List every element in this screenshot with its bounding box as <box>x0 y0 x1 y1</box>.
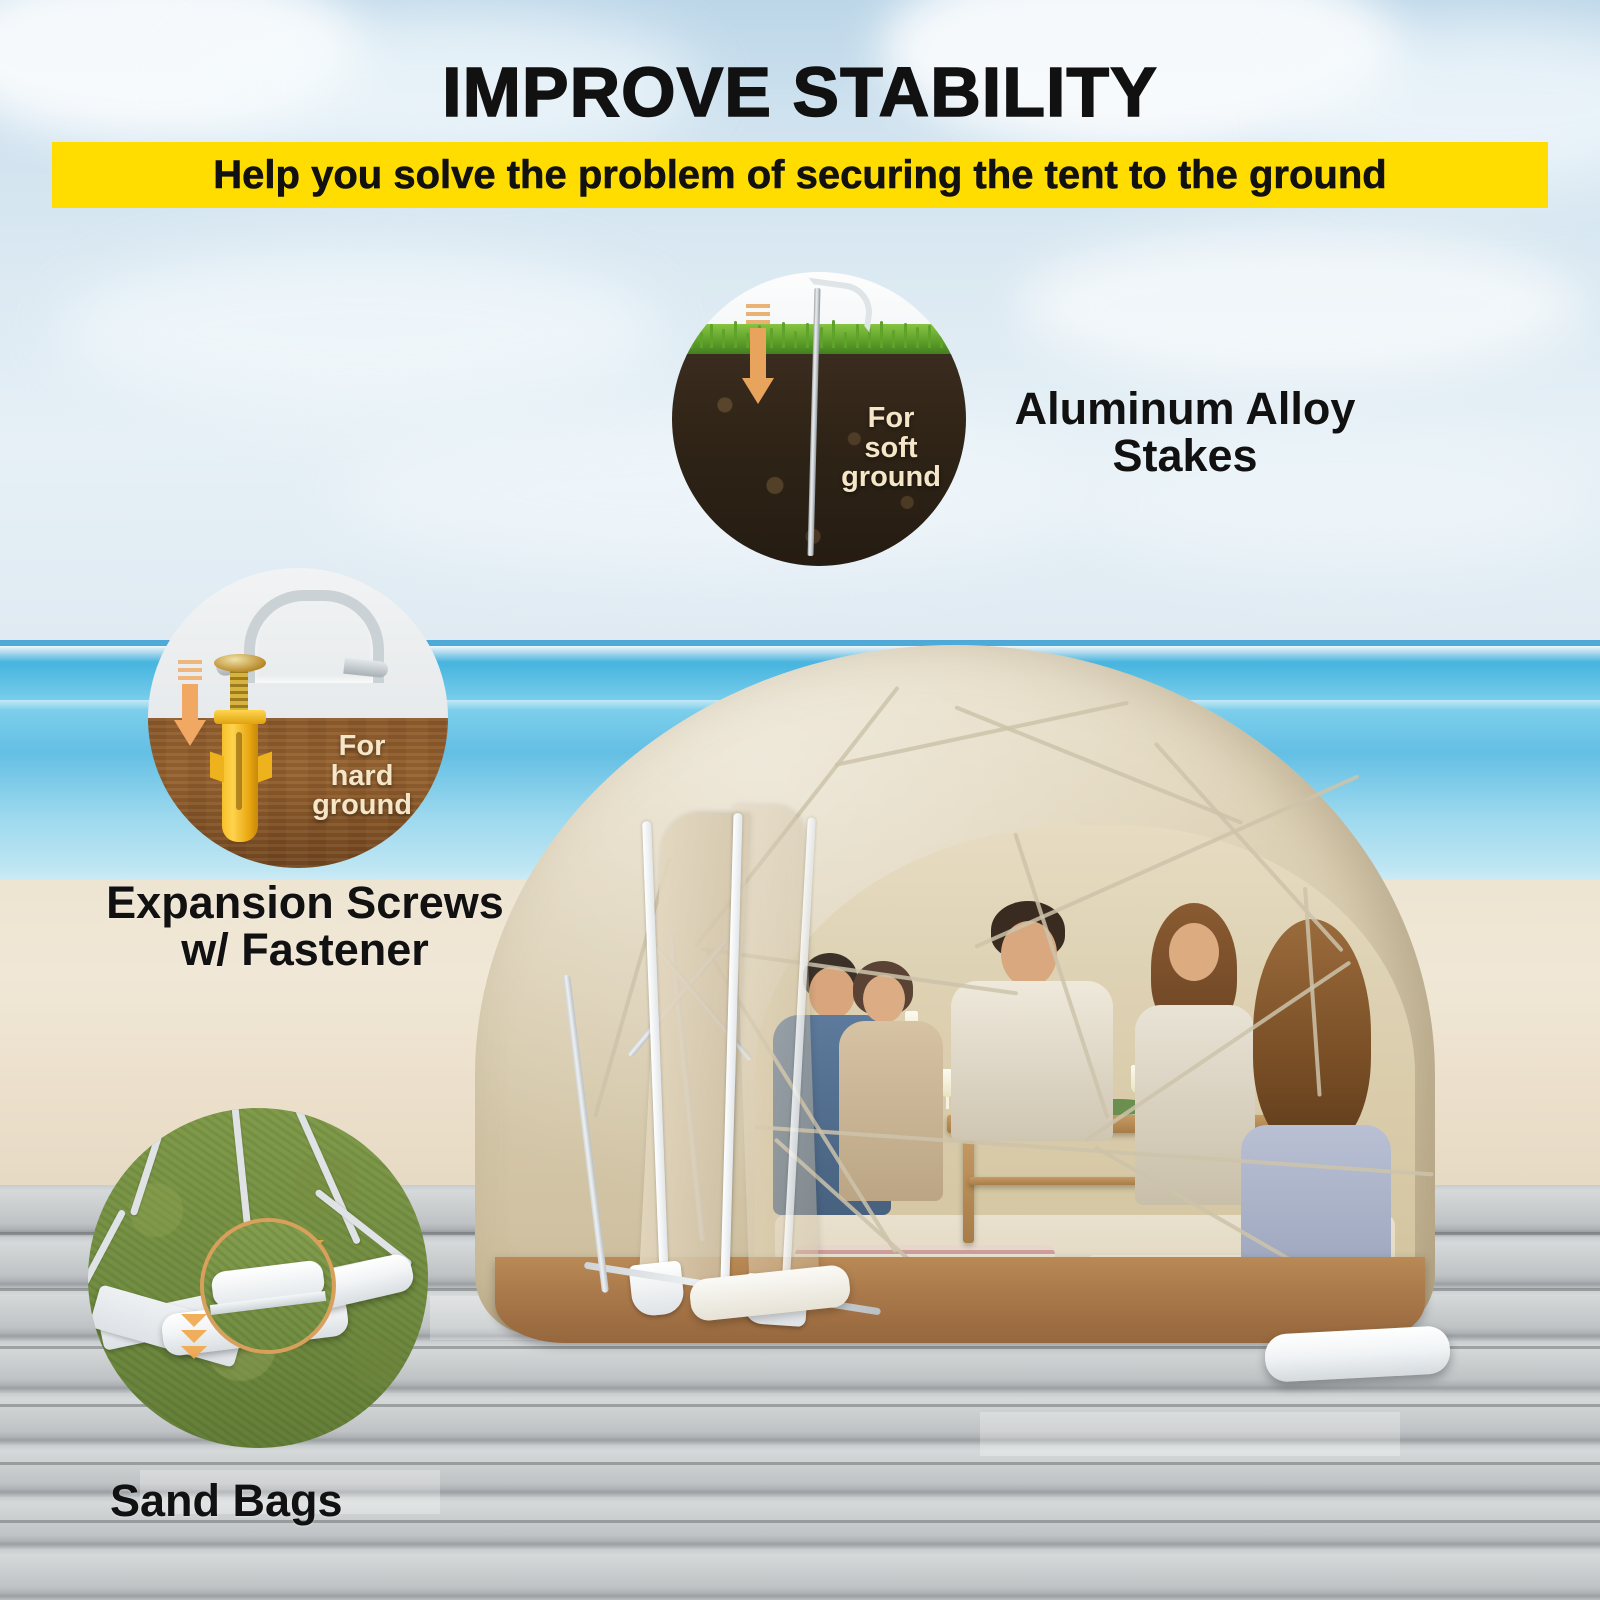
label-expansion-screws: Expansion Screws w/ Fastener <box>60 880 550 974</box>
page-title: IMPROVE STABILITY <box>0 52 1600 132</box>
subtitle-text: Help you solve the problem of securing t… <box>213 153 1386 198</box>
label-line-2: Stakes <box>985 433 1385 480</box>
anchor-slot <box>236 732 242 810</box>
wine-glass-stem <box>946 1097 949 1109</box>
infographic-canvas: IMPROVE STABILITY Help you solve the pro… <box>0 0 1600 1600</box>
subtitle-banner: Help you solve the problem of securing t… <box>52 142 1548 208</box>
cloud-shape <box>60 250 660 410</box>
arrow-tick <box>746 304 770 308</box>
hard-ground-text-line2: hard ground <box>284 762 440 821</box>
arrow-tick <box>178 660 202 664</box>
label-line-1: Expansion Screws <box>60 880 550 927</box>
deck-seam <box>0 1462 1600 1465</box>
geodesic-dome-tent <box>455 645 1465 1385</box>
down-arrow-icon <box>174 720 206 746</box>
deck-plank-highlight <box>980 1412 1400 1456</box>
arrow-shaft <box>750 328 766 380</box>
person-head <box>1169 923 1219 981</box>
arrow-shaft <box>182 684 198 722</box>
callout-circle-soft-ground: For soft ground <box>672 272 966 566</box>
arrow-tick <box>746 320 770 324</box>
cloud-shape <box>1020 230 1580 380</box>
arrow-tick <box>178 676 202 680</box>
person-head <box>863 975 905 1023</box>
person-head <box>809 967 855 1019</box>
label-sand-bags: Sand Bags <box>110 1478 430 1525</box>
callout-circle-hard-ground: For hard ground <box>148 568 448 868</box>
label-line-1: Sand Bags <box>110 1478 430 1525</box>
soft-ground-text-line2: soft ground <box>818 434 964 493</box>
expansion-anchor-collar <box>214 710 266 724</box>
down-arrow-icon <box>742 378 774 404</box>
hard-ground-text-line1: For <box>284 732 440 762</box>
soft-ground-text-line1: For <box>818 404 964 434</box>
anchor-wing <box>210 751 224 782</box>
label-aluminum-alloy-stakes: Aluminum Alloy Stakes <box>985 386 1385 480</box>
person-hair <box>1253 919 1371 1149</box>
anchor-wing <box>258 751 272 782</box>
screw-head <box>214 654 266 672</box>
arrow-tick <box>178 668 202 672</box>
sand-bag-right <box>1264 1325 1451 1383</box>
callout-circle-sand-bags <box>88 1108 428 1448</box>
label-line-2: w/ Fastener <box>60 927 550 974</box>
arrow-tick <box>746 312 770 316</box>
table-leg <box>963 1133 974 1243</box>
label-line-1: Aluminum Alloy <box>985 386 1385 433</box>
person-body <box>839 1021 943 1201</box>
sand-bag-zoom-inset <box>200 1218 336 1354</box>
